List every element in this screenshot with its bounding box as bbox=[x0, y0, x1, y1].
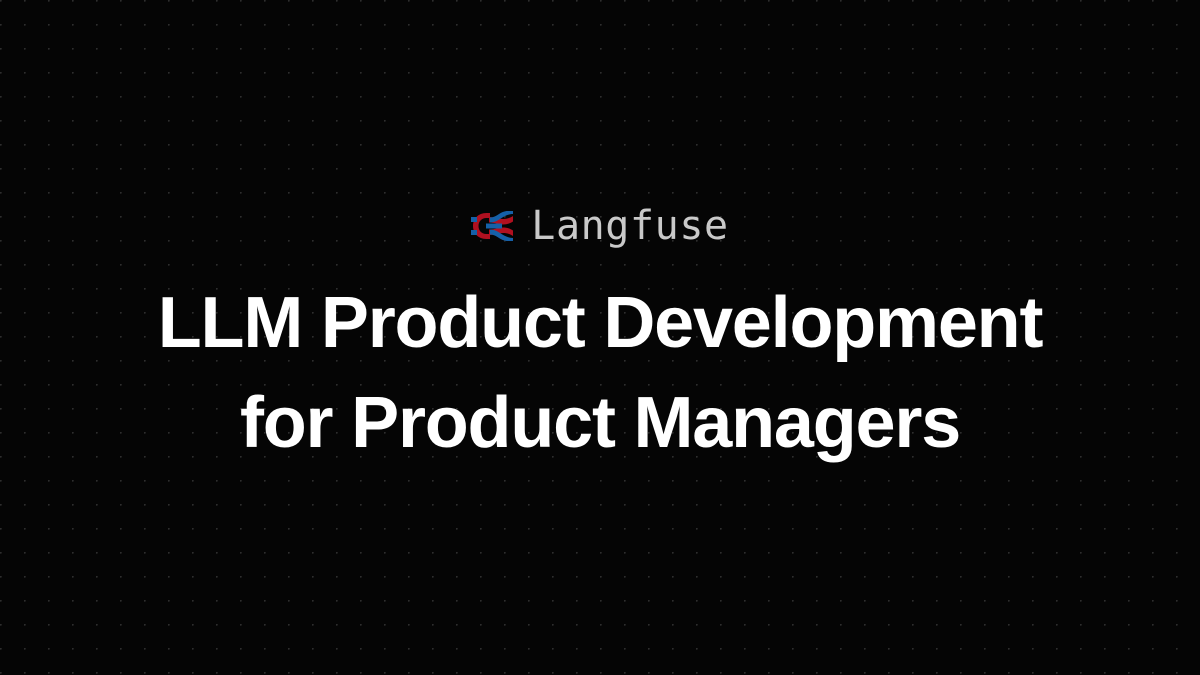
slide-content: Langfuse LLM Product Development for Pro… bbox=[0, 0, 1200, 675]
page-title-line-2: for Product Managers bbox=[158, 373, 1042, 473]
page-title-line-1: LLM Product Development bbox=[158, 273, 1042, 373]
page-title: LLM Product Development for Product Mana… bbox=[158, 273, 1042, 473]
langfuse-logo-icon bbox=[471, 211, 515, 241]
slide-canvas: Langfuse LLM Product Development for Pro… bbox=[0, 0, 1200, 675]
brand-lockup: Langfuse bbox=[471, 203, 728, 249]
brand-wordmark: Langfuse bbox=[531, 203, 728, 249]
